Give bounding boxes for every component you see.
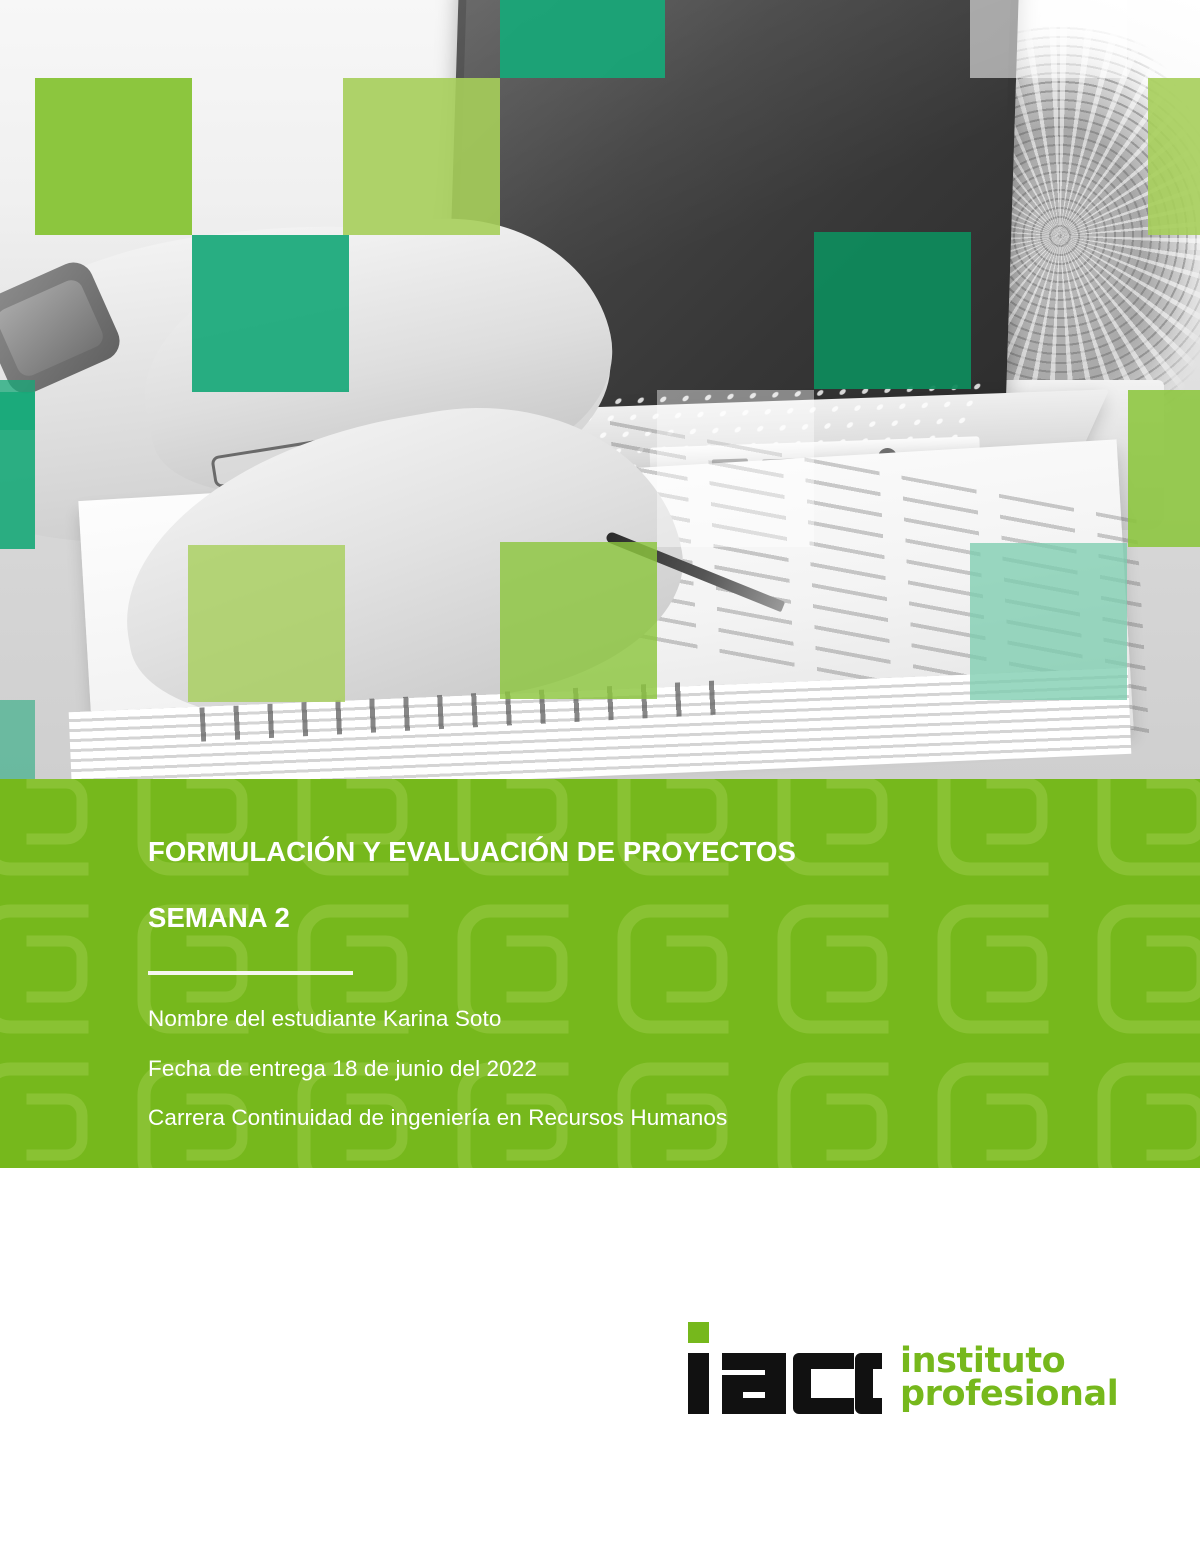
cover-meta-list: Nombre del estudiante Karina Soto Fecha … — [148, 1008, 1120, 1130]
tile-lime-center — [500, 542, 657, 699]
meta-program: Carrera Continuidad de ingeniería en Rec… — [148, 1107, 1120, 1130]
tagline-line-1: instituto — [900, 1345, 1118, 1379]
tile-teal-right — [814, 232, 971, 389]
hero-banner — [0, 0, 1200, 779]
course-title: FORMULACIÓN Y EVALUACIÓN DE PROYECTOS — [148, 835, 1120, 869]
iacc-tagline: instituto profesional — [900, 1345, 1118, 1416]
tile-teal-small-left — [0, 380, 35, 430]
tile-teal-tiny — [0, 700, 35, 779]
logo-dot — [688, 1322, 709, 1343]
band-text-block: FORMULACIÓN Y EVALUACIÓN DE PROYECTOS SE… — [148, 835, 1120, 1130]
meta-student: Nombre del estudiante Karina Soto — [148, 1008, 1120, 1031]
tile-teal-mid-left — [192, 235, 349, 392]
title-divider — [148, 971, 353, 975]
cover-page: FORMULACIÓN Y EVALUACIÓN DE PROYECTOS SE… — [0, 0, 1200, 1553]
tile-white-veil-mid — [657, 390, 814, 547]
iacc-wordmark-icon — [686, 1320, 882, 1416]
tagline-line-2: profesional — [900, 1378, 1118, 1412]
tile-lime-top-right — [1148, 78, 1200, 235]
week-title: SEMANA 2 — [148, 901, 1120, 935]
tile-teal-light-low — [970, 543, 1127, 700]
tile-lime-left-mid — [188, 545, 345, 702]
title-band: FORMULACIÓN Y EVALUACIÓN DE PROYECTOS SE… — [0, 779, 1200, 1168]
tile-lime-low-right — [1128, 390, 1200, 547]
meta-due-date: Fecha de entrega 18 de junio del 2022 — [148, 1058, 1120, 1081]
tile-teal-top-mid — [500, 0, 665, 78]
tile-lime-upper-mid — [343, 78, 500, 235]
tile-white-top-right — [970, 0, 1127, 78]
tile-lime-top-left — [35, 78, 192, 235]
iacc-logo: instituto profesional — [686, 1320, 1118, 1416]
footer-area: instituto profesional — [0, 1168, 1200, 1553]
